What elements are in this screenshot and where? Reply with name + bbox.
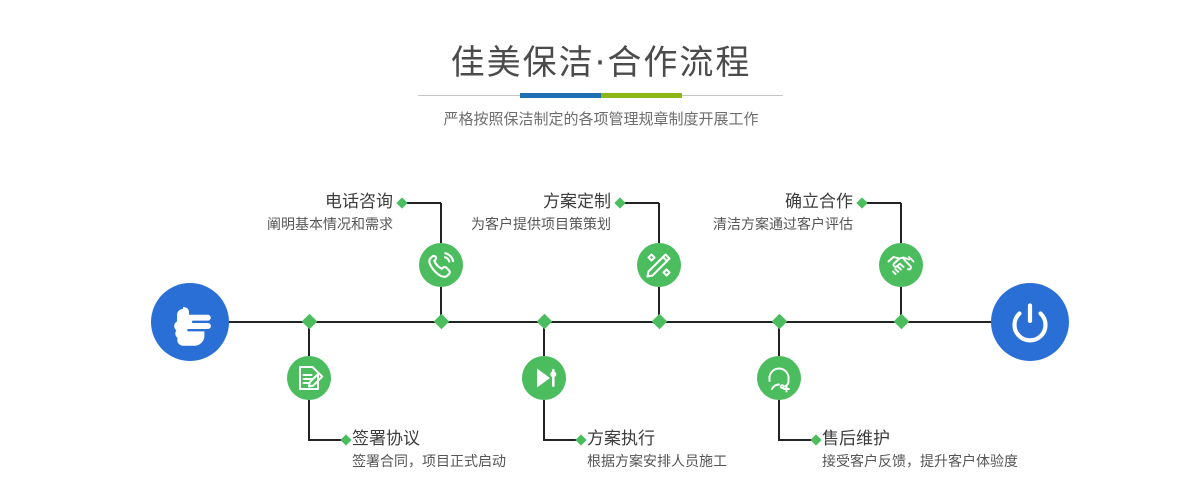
axis-marker-2: [302, 314, 318, 330]
label-marker-2: [340, 434, 351, 445]
play-execute-icon: [522, 356, 566, 400]
axis-marker-3: [652, 314, 668, 330]
step-label-3: 方案定制 为客户提供项目策策划: [398, 190, 611, 236]
pointing-hand-icon: [151, 283, 229, 361]
step-node-4[interactable]: [522, 356, 566, 400]
step-desc-1: 阐明基本情况和需求: [180, 214, 393, 236]
step-label-4: 方案执行 根据方案安排人员施工: [587, 427, 807, 473]
axis-marker-4: [537, 314, 553, 330]
step-connector-vertical-6: [778, 400, 780, 440]
step-label-6: 售后维护 接受客户反馈，提升客户体验度: [822, 427, 1082, 473]
step-connector-vertical-5: [900, 203, 902, 243]
step-label-2: 签署协议 签署合同，项目正式启动: [352, 427, 572, 473]
step-title-6: 售后维护: [822, 427, 1082, 451]
pencil-design-icon: [637, 243, 681, 287]
step-desc-6: 接受客户反馈，提升客户体验度: [822, 451, 1082, 473]
axis-marker-5: [894, 314, 910, 330]
page-title: 佳美保洁·合作流程: [0, 41, 1202, 85]
step-label-1: 电话咨询 阐明基本情况和需求: [180, 190, 393, 236]
step-desc-4: 根据方案安排人员施工: [587, 451, 807, 473]
step-desc-3: 为客户提供项目策策划: [398, 214, 611, 236]
page-subtitle: 严格按照保洁制定的各项管理规章制度开展工作: [0, 107, 1202, 131]
timeline-start-node[interactable]: [151, 283, 229, 361]
step-title-4: 方案执行: [587, 427, 807, 451]
label-marker-3: [614, 197, 625, 208]
step-connector-vertical-2: [308, 400, 310, 440]
step-node-5[interactable]: [879, 243, 923, 287]
title-divider-accent-blue: [520, 93, 601, 98]
label-marker-5: [856, 197, 867, 208]
step-node-6[interactable]: [757, 356, 801, 400]
process-flow-infographic: 佳美保洁·合作流程 严格按照保洁制定的各项管理规章制度开展工作: [0, 0, 1202, 502]
sign-document-icon: [287, 356, 331, 400]
step-node-1[interactable]: [419, 243, 463, 287]
label-marker-6: [810, 434, 821, 445]
title-divider-accent-green: [601, 93, 682, 98]
step-desc-2: 签署合同，项目正式启动: [352, 451, 572, 473]
label-leader-line-5: [864, 202, 901, 204]
step-title-1: 电话咨询: [180, 190, 393, 214]
step-title-2: 签署协议: [352, 427, 572, 451]
step-node-3[interactable]: [637, 243, 681, 287]
step-label-5: 确立合作 清洁方案通过客户评估: [640, 190, 853, 236]
step-title-5: 确立合作: [640, 190, 853, 214]
step-node-2[interactable]: [287, 356, 331, 400]
phone-call-icon: [419, 243, 463, 287]
label-marker-4: [575, 434, 586, 445]
step-title-3: 方案定制: [398, 190, 611, 214]
timeline-end-node[interactable]: [991, 283, 1069, 361]
step-connector-vertical-4: [543, 400, 545, 440]
handshake-icon: [879, 243, 923, 287]
step-desc-5: 清洁方案通过客户评估: [640, 214, 853, 236]
power-icon: [991, 283, 1069, 361]
axis-marker-6: [772, 314, 788, 330]
headset-support-icon: [757, 356, 801, 400]
axis-marker-1: [434, 314, 450, 330]
